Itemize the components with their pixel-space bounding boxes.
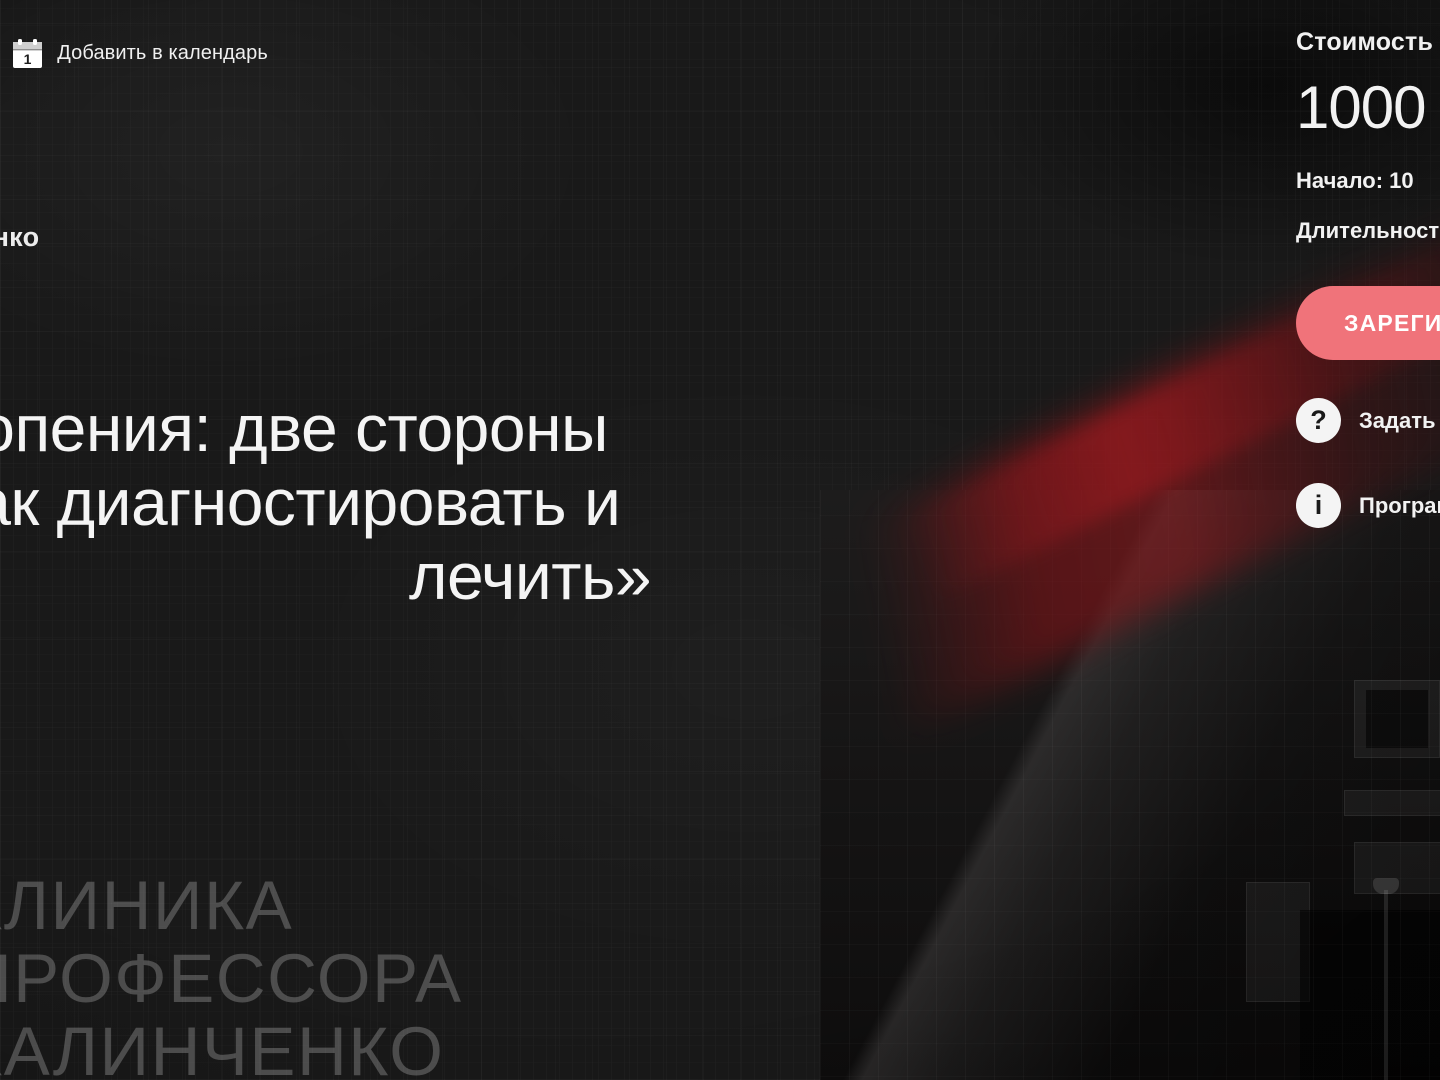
clinic-logo-line-3: КАЛИНЧЕНКО (0, 1015, 463, 1080)
start-time-text: Начало: 10 (1296, 168, 1440, 194)
event-details-panel: Стоимость 1000 Начало: 10 Длительность З… (1296, 0, 1440, 528)
event-title-line-1: и саркопения: две стороны (0, 392, 1270, 466)
clinic-logo-watermark: КЛИНИКА ПРОФЕССОРА КАЛИНЧЕНКО (0, 869, 463, 1080)
program-label: Программа (1359, 493, 1440, 519)
question-mark-icon: ? (1296, 398, 1341, 443)
event-title: и саркопения: две стороны али. Как диагн… (0, 392, 1270, 614)
clinic-logo-line-1: КЛИНИКА (0, 869, 463, 942)
event-title-line-2: али. Как диагностировать и (0, 466, 1270, 540)
ask-question-link[interactable]: ? Задать вопрос (1296, 398, 1440, 443)
price-label: Стоимость (1296, 28, 1440, 57)
duration-text: Длительность (1296, 218, 1440, 244)
program-link[interactable]: i Программа (1296, 483, 1440, 528)
ask-question-label: Задать вопрос (1359, 408, 1440, 434)
register-button[interactable]: ЗАРЕГИСТРИРОВАТЬСЯ (1296, 286, 1440, 360)
add-to-calendar-button[interactable]: 1 Добавить в календарь (12, 38, 268, 69)
speaker-name: алинченко (0, 222, 39, 253)
event-meta-row: сква 1 Добавить в календарь (0, 34, 268, 72)
calendar-icon: 1 (12, 38, 43, 69)
svg-text:1: 1 (24, 51, 32, 67)
event-title-line-3: лечить» (0, 540, 1270, 614)
hero-banner: сква 1 Добавить в календарь алинченко и … (0, 0, 1440, 1080)
add-to-calendar-label: Добавить в календарь (57, 42, 268, 65)
clinic-logo-line-2: ПРОФЕССОРА (0, 942, 463, 1015)
info-icon: i (1296, 483, 1341, 528)
price-value: 1000 (1296, 73, 1440, 142)
